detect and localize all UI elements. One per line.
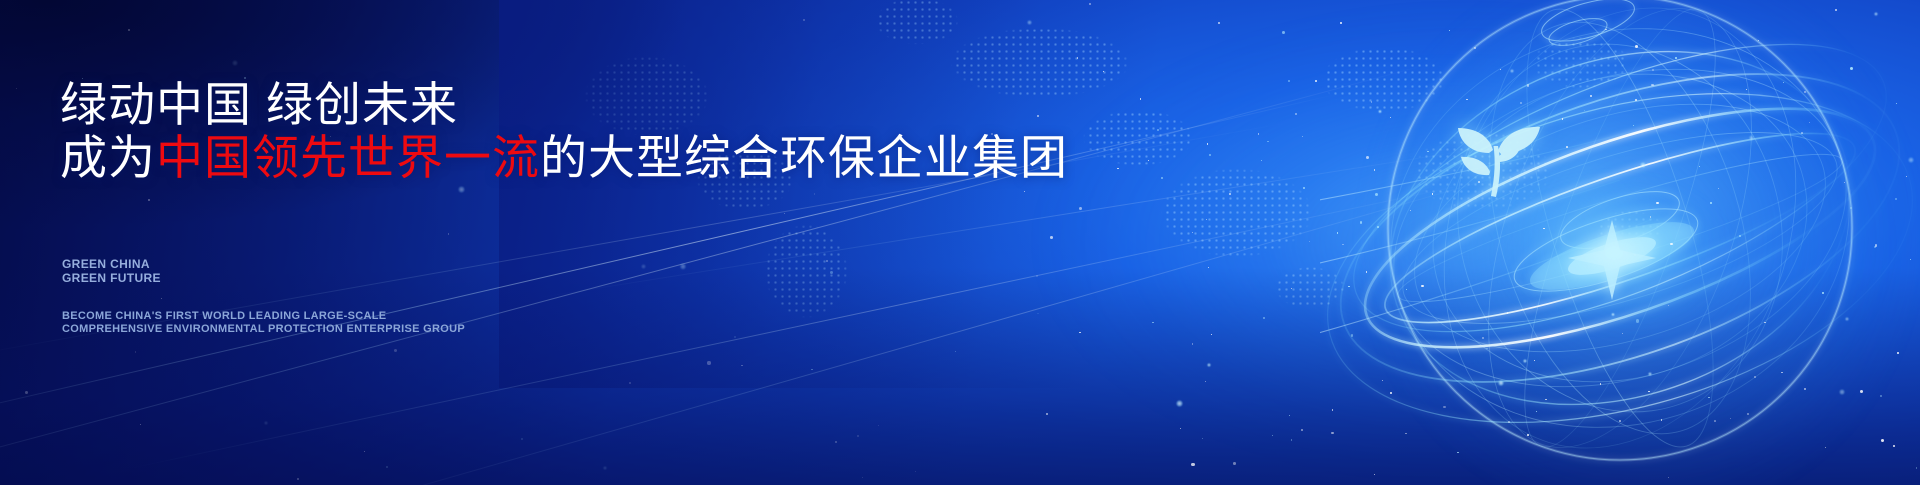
- english-slogan-line-1: GREEN CHINA: [62, 258, 161, 272]
- english-description-line-1: BECOME CHINA'S FIRST WORLD LEADING LARGE…: [62, 310, 465, 323]
- headline-line-2-prefix: 成为: [60, 131, 156, 184]
- banner-content: 绿动中国 绿创未来 成为中国领先世界一流的大型综合环保企业集团 GREEN CH…: [60, 0, 1120, 485]
- headline-line-2: 成为中国领先世界一流的大型综合环保企业集团: [60, 131, 1068, 184]
- english-slogan: GREEN CHINA GREEN FUTURE: [62, 258, 161, 285]
- headline-line-2-suffix: 的大型综合环保企业集团: [540, 131, 1068, 184]
- english-description-line-2: COMPREHENSIVE ENVIRONMENTAL PROTECTION E…: [62, 323, 465, 336]
- headline-line-2-highlight: 中国领先世界一流: [156, 131, 540, 184]
- english-description: BECOME CHINA'S FIRST WORLD LEADING LARGE…: [62, 310, 465, 335]
- english-slogan-line-2: GREEN FUTURE: [62, 272, 161, 286]
- headline-line-1: 绿动中国 绿创未来: [60, 78, 1068, 131]
- headline: 绿动中国 绿创未来 成为中国领先世界一流的大型综合环保企业集团: [60, 78, 1068, 184]
- hero-banner: 绿动中国 绿创未来 成为中国领先世界一流的大型综合环保企业集团 GREEN CH…: [0, 0, 1920, 485]
